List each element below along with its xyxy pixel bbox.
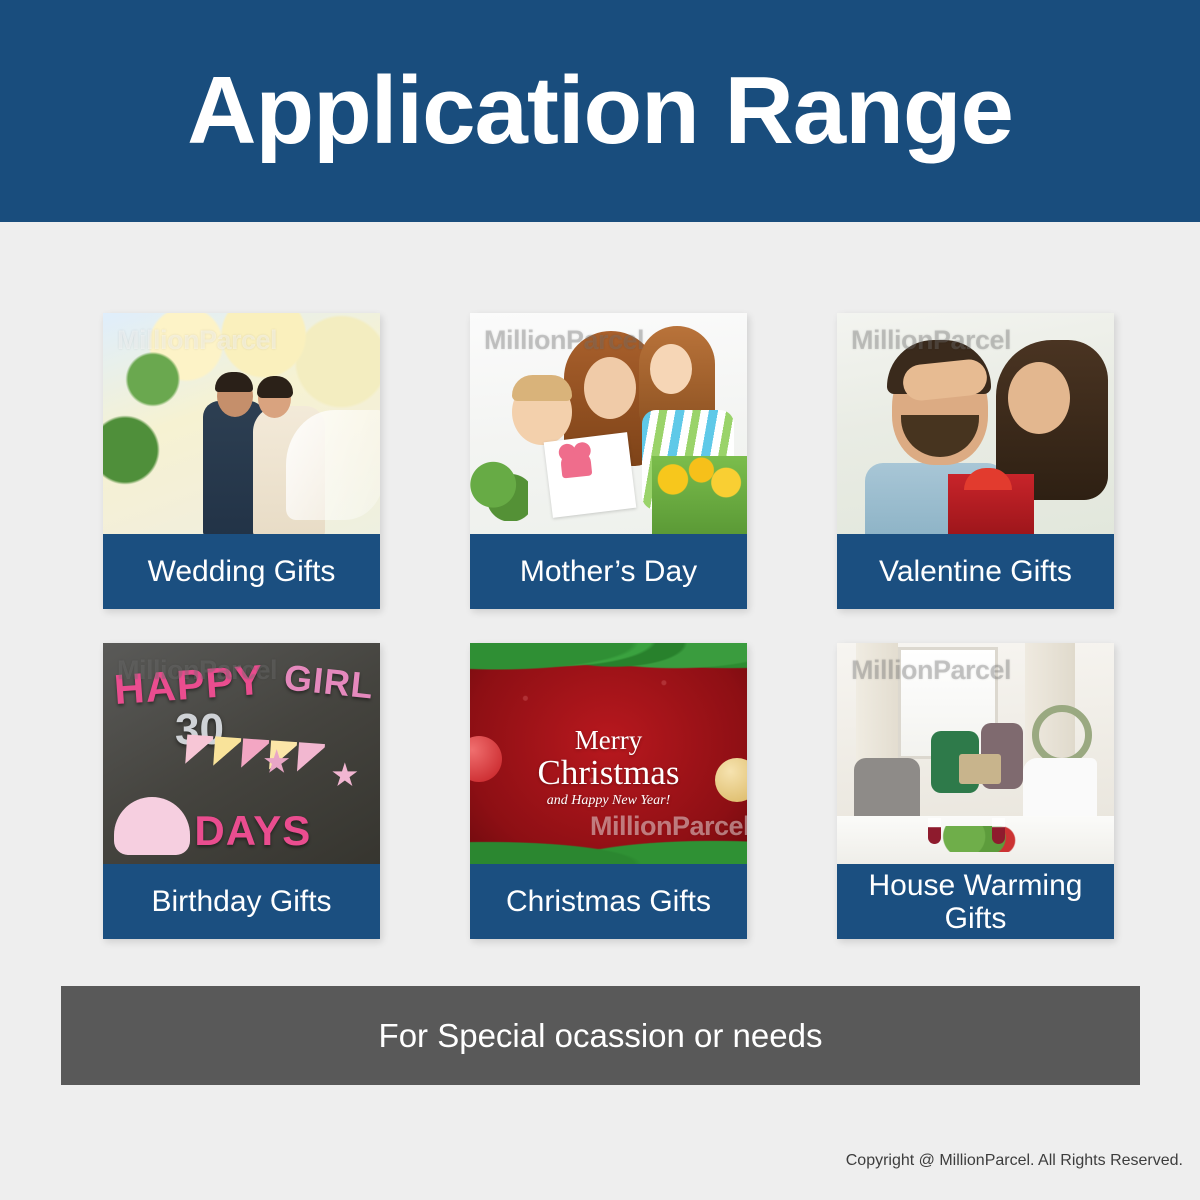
footer-copyright: Copyright @ MillionParcel. All Rights Re… — [846, 1152, 1183, 1170]
greeting-line-christmas: Christmas — [470, 755, 747, 791]
wreath-icon — [1032, 705, 1092, 765]
card-row-2: HAPPY GIRL 30 DAYS MillionParcel Birthda… — [103, 643, 1098, 939]
card-house-warming-gifts[interactable]: MillionParcel House Warming Gifts — [837, 643, 1114, 939]
greeting-line-new-year: and Happy New Year! — [470, 794, 747, 808]
page-title: Application Range — [187, 63, 1013, 159]
baby-pram-balloon-shape — [114, 797, 190, 855]
card-label-valentine-gifts: Valentine Gifts — [837, 534, 1114, 609]
card-image-valentine: MillionParcel — [837, 313, 1114, 534]
mother-face-shape — [584, 357, 636, 419]
card-christmas-gifts[interactable]: Merry Christmas and Happy New Year! Mill… — [470, 643, 747, 939]
balloon-text-girl: GIRL — [283, 656, 377, 707]
balloon-text-days: DAYS — [194, 807, 311, 855]
bridal-veil-shape — [286, 410, 380, 520]
page-header: Application Range — [0, 0, 1200, 222]
card-mothers-day[interactable]: MillionParcel Mother’s Day — [470, 313, 747, 609]
heart-icon — [560, 449, 593, 479]
tulip-bouquet-shape — [652, 456, 747, 534]
card-label-birthday-gifts: Birthday Gifts — [103, 864, 380, 939]
house-warming-photo-illustration — [837, 643, 1114, 864]
card-image-wedding: MillionParcel — [103, 313, 380, 534]
christmas-photo-illustration: Merry Christmas and Happy New Year! — [470, 643, 747, 864]
card-label-house-warming-gifts: House Warming Gifts — [837, 864, 1114, 939]
card-label-wedding-gifts: Wedding Gifts — [103, 534, 380, 609]
card-valentine-gifts[interactable]: MillionParcel Valentine Gifts — [837, 313, 1114, 609]
card-wedding-gifts[interactable]: MillionParcel Wedding Gifts — [103, 313, 380, 609]
girl-face-shape — [650, 344, 692, 394]
pine-branches-top-shape — [470, 643, 747, 691]
wine-glass-icon — [992, 818, 1005, 844]
card-row-1: MillionParcel Wedding Gifts — [103, 313, 1098, 609]
mothers-day-photo-illustration — [470, 313, 747, 534]
birthday-photo-illustration: HAPPY GIRL 30 DAYS — [103, 643, 380, 864]
special-occasion-banner: For Special ocassion or needs — [61, 986, 1140, 1085]
woman-face-shape — [1008, 362, 1070, 434]
card-image-house-warming: MillionParcel — [837, 643, 1114, 864]
christmas-greeting: Merry Christmas and Happy New Year! — [470, 727, 747, 808]
application-range-grid: MillionParcel Wedding Gifts — [103, 313, 1098, 939]
salad-bowl-shape — [942, 826, 1016, 852]
gift-parcel-shape — [959, 754, 1001, 784]
houseplant-shape — [470, 455, 528, 521]
guest-grey-shape — [854, 758, 920, 818]
card-image-christmas: Merry Christmas and Happy New Year! Mill… — [470, 643, 747, 864]
card-label-mothers-day: Mother’s Day — [470, 534, 747, 609]
card-image-birthday: HAPPY GIRL 30 DAYS MillionParcel — [103, 643, 380, 864]
card-label-christmas-gifts: Christmas Gifts — [470, 864, 747, 939]
bride-hair-shape — [257, 376, 293, 398]
baby-hair-shape — [512, 375, 572, 401]
guest-white-shape — [1023, 758, 1097, 820]
wine-glass-icon — [928, 818, 941, 844]
groom-hair-shape — [215, 372, 253, 392]
greeting-line-merry: Merry — [470, 727, 747, 755]
pine-branches-bottom-shape — [470, 826, 747, 864]
valentine-photo-illustration — [837, 313, 1114, 534]
card-birthday-gifts[interactable]: HAPPY GIRL 30 DAYS MillionParcel Birthda… — [103, 643, 380, 939]
bunting-flags-shape — [185, 735, 347, 778]
card-image-mothers-day: MillionParcel — [470, 313, 747, 534]
banner-text: For Special ocassion or needs — [379, 1017, 823, 1055]
wedding-photo-illustration — [103, 313, 380, 534]
